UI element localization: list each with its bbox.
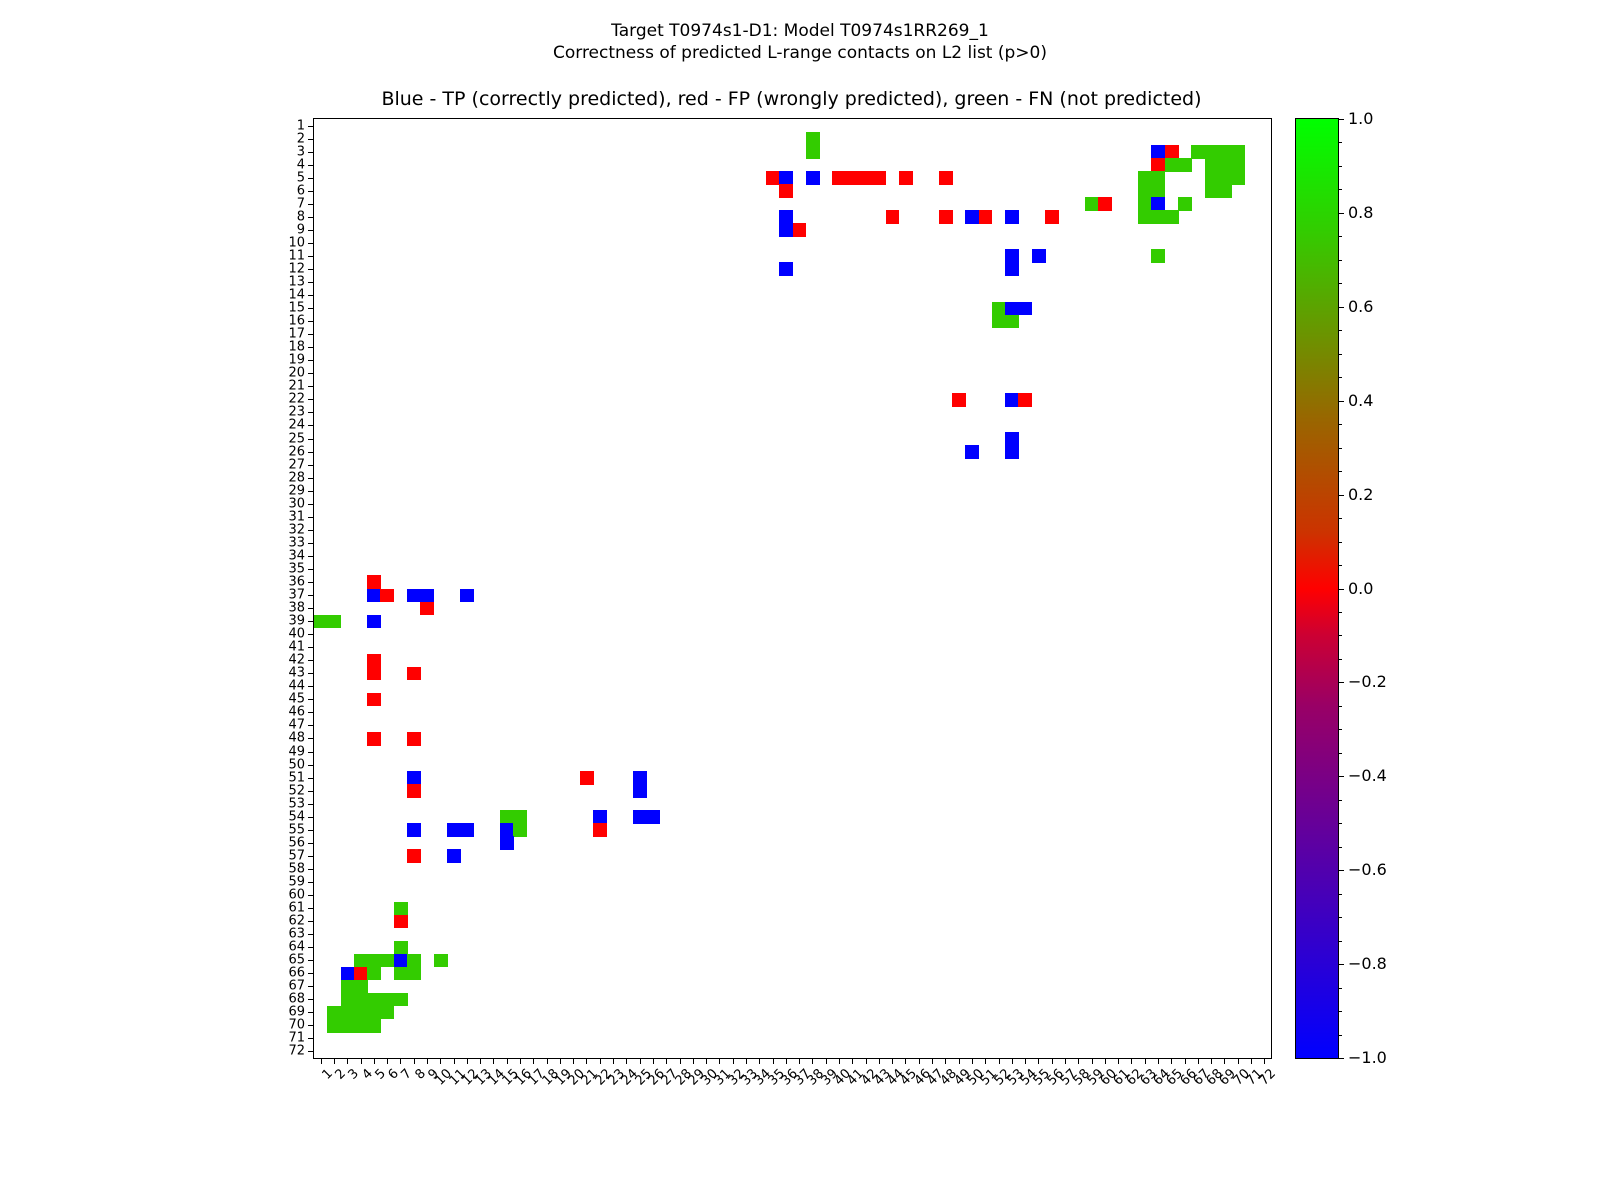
x-axis-tick bbox=[374, 1058, 375, 1064]
x-axis-tick bbox=[1012, 1058, 1013, 1064]
colorbar-minor-tick bbox=[1338, 142, 1342, 143]
y-axis-tick bbox=[308, 673, 314, 674]
y-axis-tick-label: 25 bbox=[288, 432, 305, 445]
heatmap-cell bbox=[806, 132, 820, 146]
heatmap-cell bbox=[1218, 158, 1232, 172]
x-axis-tick bbox=[1065, 1058, 1066, 1064]
colorbar-minor-tick bbox=[1338, 847, 1342, 848]
heatmap-cell bbox=[407, 954, 421, 968]
y-axis-tick-label: 31 bbox=[288, 510, 305, 523]
colorbar-tick bbox=[1338, 1058, 1344, 1059]
heatmap-cell bbox=[341, 980, 355, 994]
y-axis-tick-label: 58 bbox=[288, 862, 305, 875]
colorbar-minor-tick bbox=[1338, 471, 1342, 472]
heatmap-cell bbox=[1018, 393, 1032, 407]
heatmap-cell bbox=[314, 615, 328, 629]
heatmap-cell bbox=[580, 771, 594, 785]
x-axis-tick bbox=[547, 1058, 548, 1064]
x-axis-tick bbox=[1251, 1058, 1252, 1064]
y-axis-tick bbox=[308, 504, 314, 505]
colorbar-minor-tick bbox=[1338, 260, 1342, 261]
y-axis-tick-label: 27 bbox=[288, 458, 305, 471]
heatmap-cell bbox=[965, 210, 979, 224]
x-axis-tick bbox=[959, 1058, 960, 1064]
heatmap-cell bbox=[354, 1006, 368, 1020]
y-axis-tick bbox=[308, 465, 314, 466]
y-axis-tick-label: 61 bbox=[288, 902, 305, 915]
y-axis-tick bbox=[308, 804, 314, 805]
colorbar-tick bbox=[1338, 495, 1344, 496]
y-axis-tick-label: 72 bbox=[288, 1045, 305, 1058]
heatmap-cell bbox=[992, 315, 1006, 329]
heatmap-cell bbox=[793, 223, 807, 237]
y-axis-tick bbox=[308, 308, 314, 309]
y-axis-tick bbox=[308, 634, 314, 635]
y-axis-tick-label: 37 bbox=[288, 589, 305, 602]
y-axis-tick-label: 40 bbox=[288, 628, 305, 641]
x-axis-tick bbox=[440, 1058, 441, 1064]
colorbar-minor-tick bbox=[1338, 565, 1342, 566]
heatmap-cell bbox=[593, 810, 607, 824]
heatmap-cell bbox=[380, 954, 394, 968]
colorbar-minor-tick bbox=[1338, 283, 1342, 284]
x-axis-tick bbox=[759, 1058, 760, 1064]
colorbar-minor-tick bbox=[1338, 800, 1342, 801]
y-axis-tick bbox=[308, 921, 314, 922]
heatmap-cell bbox=[1218, 145, 1232, 159]
heatmap-cell bbox=[1005, 302, 1019, 316]
heatmap-cell bbox=[327, 615, 341, 629]
heatmap-cell bbox=[1005, 445, 1019, 459]
x-axis-tick bbox=[1158, 1058, 1159, 1064]
x-axis-tick bbox=[653, 1058, 654, 1064]
y-axis-tick bbox=[308, 660, 314, 661]
y-axis-tick-label: 16 bbox=[288, 315, 305, 328]
heatmap-cell bbox=[367, 615, 381, 629]
y-axis-tick-label: 54 bbox=[288, 810, 305, 823]
heatmap-cell bbox=[367, 1019, 381, 1033]
y-axis-tick bbox=[308, 595, 314, 596]
heatmap-cell bbox=[779, 184, 793, 198]
colorbar-tick-label: 0.8 bbox=[1348, 205, 1373, 221]
y-axis-tick bbox=[308, 178, 314, 179]
y-axis-tick bbox=[308, 165, 314, 166]
y-axis-tick-label: 7 bbox=[297, 197, 305, 210]
heatmap-cell bbox=[354, 954, 368, 968]
heatmap-cell bbox=[460, 589, 474, 603]
y-axis-tick-label: 64 bbox=[288, 941, 305, 954]
heatmap-cell bbox=[367, 589, 381, 603]
y-axis-tick bbox=[308, 412, 314, 413]
x-axis-tick bbox=[1264, 1058, 1265, 1064]
heatmap-cell bbox=[1032, 249, 1046, 263]
y-axis-tick-label: 46 bbox=[288, 706, 305, 719]
heatmap-cell bbox=[341, 1006, 355, 1020]
colorbar-tick bbox=[1338, 401, 1344, 402]
colorbar-tick bbox=[1338, 776, 1344, 777]
colorbar-minor-tick bbox=[1338, 330, 1342, 331]
colorbar-tick-label: −0.6 bbox=[1348, 862, 1387, 878]
y-axis-tick bbox=[308, 217, 314, 218]
heatmap-cell bbox=[593, 823, 607, 837]
colorbar-minor-tick bbox=[1338, 166, 1342, 167]
x-axis-tick bbox=[866, 1058, 867, 1064]
y-axis-tick bbox=[308, 152, 314, 153]
y-axis-tick-label: 4 bbox=[297, 158, 305, 171]
heatmap-cell bbox=[407, 667, 421, 681]
y-axis-tick bbox=[308, 699, 314, 700]
colorbar-tick bbox=[1338, 870, 1344, 871]
x-axis-tick bbox=[826, 1058, 827, 1064]
heatmap-cell bbox=[394, 915, 408, 929]
x-axis-tick bbox=[1092, 1058, 1093, 1064]
heatmap-cell bbox=[1151, 184, 1165, 198]
x-axis-tick bbox=[533, 1058, 534, 1064]
y-axis-tick-label: 60 bbox=[288, 888, 305, 901]
heatmap-cell bbox=[832, 171, 846, 185]
x-axis-tick bbox=[972, 1058, 973, 1064]
colorbar-minor-tick bbox=[1338, 823, 1342, 824]
y-axis-tick bbox=[308, 478, 314, 479]
y-axis-tick bbox=[308, 230, 314, 231]
y-axis-tick bbox=[308, 360, 314, 361]
x-axis-tick bbox=[812, 1058, 813, 1064]
colorbar-minor-tick bbox=[1338, 354, 1342, 355]
y-axis-tick bbox=[308, 530, 314, 531]
y-axis-tick bbox=[308, 1012, 314, 1013]
colorbar-tick-label: −0.2 bbox=[1348, 674, 1387, 690]
y-axis-tick bbox=[308, 960, 314, 961]
colorbar-tick bbox=[1338, 213, 1344, 214]
heatmap-cell bbox=[992, 302, 1006, 316]
y-axis-tick bbox=[308, 830, 314, 831]
heatmap-cell bbox=[407, 771, 421, 785]
heatmap-cell bbox=[779, 210, 793, 224]
y-axis-tick bbox=[308, 543, 314, 544]
colorbar-minor-tick bbox=[1338, 1035, 1342, 1036]
x-axis-tick bbox=[467, 1058, 468, 1064]
y-axis-tick bbox=[308, 425, 314, 426]
x-axis-tick bbox=[786, 1058, 787, 1064]
heatmap-cell bbox=[1138, 184, 1152, 198]
x-axis-tick bbox=[493, 1058, 494, 1064]
heatmap-cell bbox=[407, 967, 421, 981]
heatmap-cell bbox=[367, 654, 381, 668]
y-axis-tick-label: 12 bbox=[288, 262, 305, 275]
y-axis-tick bbox=[308, 869, 314, 870]
heatmap-cell bbox=[1018, 302, 1032, 316]
heatmap-cell bbox=[394, 993, 408, 1007]
x-axis-tick bbox=[919, 1058, 920, 1064]
heatmap-cell bbox=[447, 823, 461, 837]
x-axis-tick bbox=[347, 1058, 348, 1064]
heatmap-cell bbox=[1231, 158, 1245, 172]
y-axis-tick bbox=[308, 517, 314, 518]
y-axis-tick-label: 21 bbox=[288, 380, 305, 393]
y-axis-tick bbox=[308, 1038, 314, 1039]
heatmap-cell bbox=[1138, 171, 1152, 185]
heatmap-cell bbox=[979, 210, 993, 224]
heatmap-cell bbox=[1191, 145, 1205, 159]
x-axis-tick bbox=[454, 1058, 455, 1064]
colorbar-minor-tick bbox=[1338, 189, 1342, 190]
heatmap-cell bbox=[646, 810, 660, 824]
heatmap-cell bbox=[899, 171, 913, 185]
heatmap-cell bbox=[420, 589, 434, 603]
y-axis-tick-label: 10 bbox=[288, 236, 305, 249]
heatmap-cell bbox=[341, 967, 355, 981]
heatmap-cell bbox=[460, 823, 474, 837]
colorbar-minor-tick bbox=[1338, 236, 1342, 237]
y-axis-tick-label: 55 bbox=[288, 823, 305, 836]
contact-map-axes: 1234567891011121314151617181920212223242… bbox=[313, 118, 1272, 1059]
heatmap-cell bbox=[367, 667, 381, 681]
heatmap-cell bbox=[1151, 158, 1165, 172]
y-axis-tick bbox=[308, 947, 314, 948]
y-axis-tick bbox=[308, 269, 314, 270]
heatmap-cell bbox=[846, 171, 860, 185]
heatmap-cell bbox=[1165, 145, 1179, 159]
x-axis-tick bbox=[985, 1058, 986, 1064]
colorbar-minor-tick bbox=[1338, 424, 1342, 425]
y-axis-tick bbox=[308, 765, 314, 766]
x-axis-tick bbox=[586, 1058, 587, 1064]
heatmap-cell bbox=[1165, 158, 1179, 172]
x-axis-tick bbox=[613, 1058, 614, 1064]
heatmap-cell bbox=[380, 993, 394, 1007]
y-axis-tick-label: 1 bbox=[297, 119, 305, 132]
heatmap-cell bbox=[1098, 197, 1112, 211]
y-axis-tick bbox=[308, 399, 314, 400]
y-axis-tick bbox=[308, 569, 314, 570]
heatmap-cell bbox=[1005, 210, 1019, 224]
heatmap-cell bbox=[779, 262, 793, 276]
y-axis-tick-label: 33 bbox=[288, 536, 305, 549]
heatmap-cell bbox=[367, 732, 381, 746]
x-axis-tick bbox=[507, 1058, 508, 1064]
x-axis-tick bbox=[693, 1058, 694, 1064]
heatmap-cell bbox=[1045, 210, 1059, 224]
y-axis-tick bbox=[308, 334, 314, 335]
y-axis-tick-label: 18 bbox=[288, 341, 305, 354]
heatmap-cell bbox=[779, 171, 793, 185]
colorbar-tick-label: −0.8 bbox=[1348, 956, 1387, 972]
heatmap-cell bbox=[859, 171, 873, 185]
colorbar-minor-tick bbox=[1338, 894, 1342, 895]
colorbar-minor-tick bbox=[1338, 1011, 1342, 1012]
y-axis-tick-label: 52 bbox=[288, 784, 305, 797]
heatmap-cell bbox=[394, 902, 408, 916]
y-axis-tick-label: 15 bbox=[288, 302, 305, 315]
colorbar-minor-tick bbox=[1338, 448, 1342, 449]
heatmap-cell bbox=[1218, 184, 1232, 198]
y-axis-tick-label: 13 bbox=[288, 276, 305, 289]
y-axis-tick bbox=[308, 256, 314, 257]
y-axis-tick bbox=[308, 608, 314, 609]
y-axis-tick bbox=[308, 139, 314, 140]
y-axis-tick-label: 63 bbox=[288, 928, 305, 941]
y-axis-tick bbox=[308, 843, 314, 844]
y-axis-tick-label: 34 bbox=[288, 549, 305, 562]
x-axis-tick bbox=[905, 1058, 906, 1064]
heatmap-cell bbox=[872, 171, 886, 185]
y-axis-tick-label: 24 bbox=[288, 419, 305, 432]
heatmap-cell bbox=[1151, 171, 1165, 185]
y-axis-tick bbox=[308, 191, 314, 192]
x-axis-tick bbox=[1052, 1058, 1053, 1064]
colorbar-tick-label: 0.6 bbox=[1348, 299, 1373, 315]
x-axis-tick bbox=[414, 1058, 415, 1064]
heatmap-cell bbox=[394, 954, 408, 968]
y-axis-tick bbox=[308, 126, 314, 127]
heatmap-cell bbox=[766, 171, 780, 185]
heatmap-cell bbox=[633, 784, 647, 798]
x-axis-tick bbox=[387, 1058, 388, 1064]
heatmap-cell bbox=[1085, 197, 1099, 211]
y-axis-tick-label: 30 bbox=[288, 497, 305, 510]
heatmap-cell bbox=[1151, 249, 1165, 263]
heatmap-cell bbox=[407, 784, 421, 798]
x-axis-tick bbox=[733, 1058, 734, 1064]
heatmap-cell bbox=[1178, 197, 1192, 211]
heatmap-cell bbox=[779, 223, 793, 237]
x-axis-tick bbox=[719, 1058, 720, 1064]
colorbar-tick bbox=[1338, 682, 1344, 683]
x-axis-tick bbox=[1105, 1058, 1106, 1064]
x-axis-tick bbox=[1211, 1058, 1212, 1064]
y-axis-tick bbox=[308, 725, 314, 726]
colorbar-tick bbox=[1338, 964, 1344, 965]
x-axis-tick bbox=[1131, 1058, 1132, 1064]
colorbar-minor-tick bbox=[1338, 753, 1342, 754]
x-axis-tick bbox=[480, 1058, 481, 1064]
x-axis-tick bbox=[1038, 1058, 1039, 1064]
colorbar-tick-label: −0.4 bbox=[1348, 768, 1387, 784]
heatmap-cell bbox=[965, 445, 979, 459]
y-axis-tick bbox=[308, 647, 314, 648]
y-axis-tick bbox=[308, 452, 314, 453]
y-axis-tick bbox=[308, 295, 314, 296]
y-axis-tick bbox=[308, 556, 314, 557]
x-axis-tick bbox=[680, 1058, 681, 1064]
heatmap-cell-layer bbox=[314, 119, 1271, 1058]
y-axis-tick-label: 51 bbox=[288, 771, 305, 784]
x-axis-tick bbox=[852, 1058, 853, 1064]
heatmap-cell bbox=[354, 967, 368, 981]
x-axis-tick bbox=[573, 1058, 574, 1064]
y-axis-tick bbox=[308, 738, 314, 739]
x-axis-tick bbox=[400, 1058, 401, 1064]
heatmap-cell bbox=[806, 171, 820, 185]
heatmap-cell bbox=[341, 993, 355, 1007]
x-axis-tick bbox=[773, 1058, 774, 1064]
heatmap-cell bbox=[1151, 210, 1165, 224]
y-axis-tick bbox=[308, 243, 314, 244]
colorbar-minor-tick bbox=[1338, 917, 1342, 918]
colorbar-minor-tick bbox=[1338, 612, 1342, 613]
heatmap-cell bbox=[513, 823, 527, 837]
colorbar-tick-label: 0.4 bbox=[1348, 393, 1373, 409]
x-axis-tick bbox=[879, 1058, 880, 1064]
x-axis-tick bbox=[999, 1058, 1000, 1064]
y-axis-tick bbox=[308, 621, 314, 622]
y-axis-tick bbox=[308, 491, 314, 492]
y-axis-tick-label: 19 bbox=[288, 354, 305, 367]
y-axis-tick bbox=[308, 778, 314, 779]
x-axis-tick bbox=[666, 1058, 667, 1064]
heatmap-cell bbox=[447, 849, 461, 863]
axes-title-legend: Blue - TP (correctly predicted), red - F… bbox=[313, 88, 1270, 110]
colorbar-minor-tick bbox=[1338, 659, 1342, 660]
x-axis-tick bbox=[520, 1058, 521, 1064]
heatmap-cell bbox=[380, 589, 394, 603]
heatmap-cell bbox=[1138, 210, 1152, 224]
colorbar-tick bbox=[1338, 119, 1344, 120]
x-axis-tick bbox=[600, 1058, 601, 1064]
y-axis-tick bbox=[308, 999, 314, 1000]
y-axis-tick-label: 57 bbox=[288, 849, 305, 862]
heatmap-cell bbox=[806, 145, 820, 159]
x-axis-tick bbox=[560, 1058, 561, 1064]
heatmap-cell bbox=[354, 980, 368, 994]
x-axis-tick bbox=[1185, 1058, 1186, 1064]
colorbar-tick bbox=[1338, 307, 1344, 308]
heatmap-cell bbox=[1005, 393, 1019, 407]
heatmap-cell bbox=[341, 1019, 355, 1033]
heatmap-cell bbox=[1231, 171, 1245, 185]
colorbar-minor-tick bbox=[1338, 377, 1342, 378]
y-axis-tick-label: 67 bbox=[288, 980, 305, 993]
y-axis-tick-label: 3 bbox=[297, 145, 305, 158]
y-axis-tick bbox=[308, 986, 314, 987]
heatmap-cell bbox=[886, 210, 900, 224]
heatmap-cell bbox=[500, 823, 514, 837]
y-axis-tick bbox=[308, 752, 314, 753]
heatmap-cell bbox=[327, 1006, 341, 1020]
y-axis-tick bbox=[308, 582, 314, 583]
y-axis-tick-label: 66 bbox=[288, 967, 305, 980]
x-axis-tick bbox=[706, 1058, 707, 1064]
x-axis-tick bbox=[1238, 1058, 1239, 1064]
x-axis-tick bbox=[1145, 1058, 1146, 1064]
heatmap-cell bbox=[394, 967, 408, 981]
y-axis-tick bbox=[308, 895, 314, 896]
heatmap-cell bbox=[1138, 197, 1152, 211]
heatmap-cell bbox=[354, 993, 368, 1007]
heatmap-cell bbox=[633, 810, 647, 824]
x-axis-tick bbox=[626, 1058, 627, 1064]
heatmap-cell bbox=[407, 823, 421, 837]
heatmap-cell bbox=[367, 575, 381, 589]
y-axis-tick-label: 42 bbox=[288, 654, 305, 667]
heatmap-cell bbox=[952, 393, 966, 407]
heatmap-cell bbox=[1231, 145, 1245, 159]
colorbar-minor-tick bbox=[1338, 635, 1342, 636]
y-axis-tick bbox=[308, 1025, 314, 1026]
colorbar-minor-tick bbox=[1338, 706, 1342, 707]
heatmap-cell bbox=[367, 954, 381, 968]
y-axis-tick bbox=[308, 817, 314, 818]
heatmap-cell bbox=[1205, 171, 1219, 185]
y-axis-tick-label: 22 bbox=[288, 393, 305, 406]
colorbar-tick bbox=[1338, 589, 1344, 590]
y-axis-tick bbox=[308, 908, 314, 909]
heatmap-cell bbox=[367, 993, 381, 1007]
heatmap-cell bbox=[380, 1006, 394, 1020]
x-axis-tick bbox=[945, 1058, 946, 1064]
heatmap-cell bbox=[434, 954, 448, 968]
y-axis-tick bbox=[308, 439, 314, 440]
